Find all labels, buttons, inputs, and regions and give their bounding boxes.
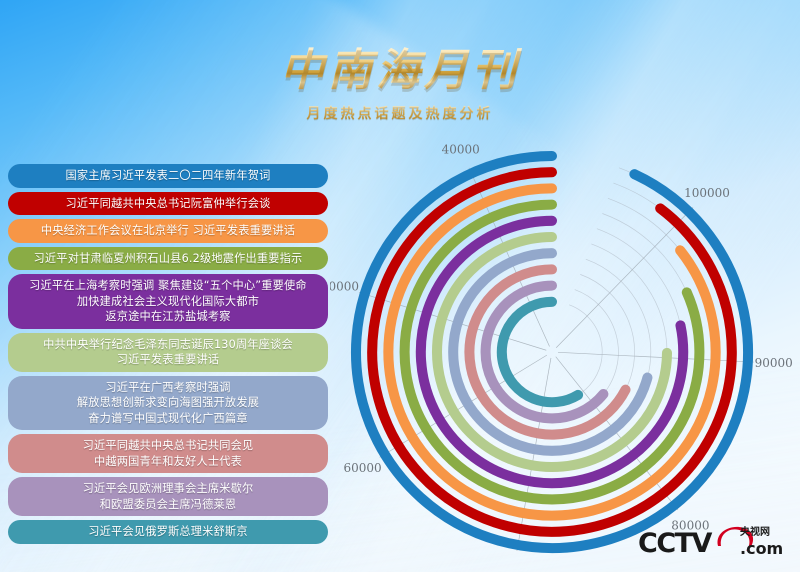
tick-label-40000: 40000 [442,143,480,157]
bar-track [575,290,619,394]
grid-spoke [556,207,693,347]
radial-bar-5[interactable] [421,221,683,483]
radial-bar-1[interactable] [356,156,748,548]
topic-label-8[interactable]: 习近平同越共中央总书记共同会见 中越两国青年和友好人士代表 [8,434,328,473]
grid-spoke [558,352,754,362]
bar-track [608,198,680,250]
bar-track [569,305,602,395]
tick-label-100000: 100000 [684,186,730,200]
cctv-logo-text: CCTV [638,528,713,559]
tick-label-90000: 90000 [755,356,793,370]
bar-track [580,274,634,389]
topic-label-2[interactable]: 习近平同越共中央总书记阮富仲举行会谈 [8,192,328,216]
page-title: 中南海月刊 [0,46,800,95]
header: 中南海月刊 月度热点话题及热度分析 [0,46,800,123]
cctv-logo: CCTV 央视网 .com [636,522,786,560]
cctv-logo-cn: 央视网 [740,525,770,538]
cctv-logo-tld: .com [740,539,783,558]
topic-label-5[interactable]: 习近平在上海考察时强调 聚焦建设“五个中心”重要使命 加快建成社会主义现代化国际… [8,274,328,329]
topic-label-3[interactable]: 中央经济工作会议在北京举行 习近平发表重要讲话 [8,219,328,243]
topic-label-6[interactable]: 中共中央举行纪念毛泽东同志诞辰130周年座谈会 习近平发表重要讲话 [8,333,328,372]
radial-bar-10[interactable] [502,302,578,402]
bar-track [597,229,681,326]
radial-bar-2[interactable] [372,172,732,532]
topic-label-9[interactable]: 习近平会见欧洲理事会主席米歇尔 和欧盟委员会主席冯德莱恩 [8,477,328,516]
bar-track [591,244,667,353]
topic-label-1[interactable]: 国家主席习近平发表二〇二四年新年贺词 [8,164,328,188]
radial-chart-svg: 400005000060000700008000090000100000 [330,118,800,558]
topic-label-list: 国家主席习近平发表二〇二四年新年贺词习近平同越共中央总书记阮富仲举行会谈中央经济… [8,164,328,548]
topic-label-4[interactable]: 习近平对甘肃临夏州积石山县6.2级地震作出重要指示 [8,247,328,271]
infographic-canvas: 中南海月刊 月度热点话题及热度分析 国家主席习近平发表二〇二四年新年贺词习近平同… [0,0,800,572]
tick-label-60000: 60000 [344,461,382,475]
radial-bar-chart: 400005000060000700008000090000100000 [330,118,800,558]
chart-bars [356,156,748,548]
tick-label-50000: 50000 [330,280,359,294]
topic-label-7[interactable]: 习近平在广西考察时强调 解放思想创新求变向海图强开放发展 奋力谱写中国式现代化广… [8,376,328,431]
topic-label-10[interactable]: 习近平会见俄罗斯总理米舒斯京 [8,520,328,544]
